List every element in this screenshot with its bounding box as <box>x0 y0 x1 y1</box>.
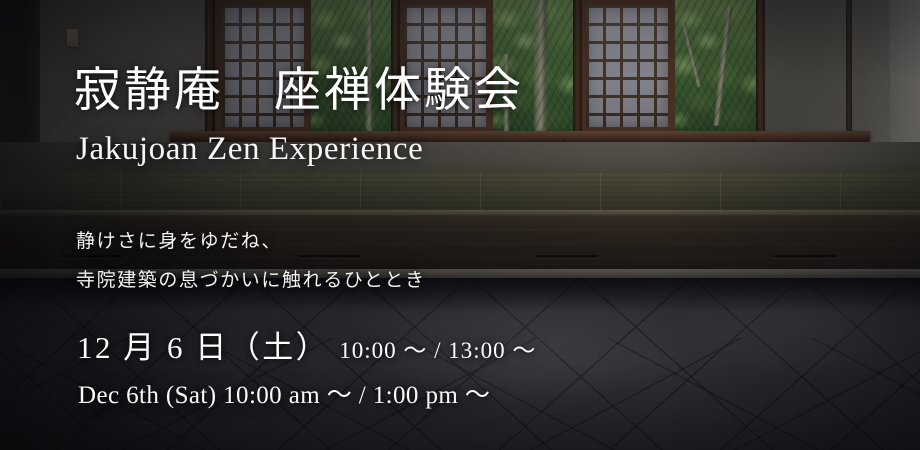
event-date-english: Dec 6th (Sat) 10:00 am ～ / 1:00 pm ～ <box>78 375 490 411</box>
event-poster: 寂静庵 座禅体験会 Jakujoan Zen Experience 静けさに身を… <box>0 0 920 450</box>
poster-text-overlay: 寂静庵 座禅体験会 Jakujoan Zen Experience 静けさに身を… <box>0 0 920 450</box>
event-date-japanese: 12 月 6 日（土）10:00 ～ / 13:00 ～ <box>77 322 536 367</box>
page-title-english: Jakujoan Zen Experience <box>76 133 423 166</box>
lead-line-2: 寺院建築の息づかいに触れるひととき <box>76 261 426 300</box>
event-date-japanese-day: 12 月 6 日（土） <box>77 330 329 365</box>
lead-paragraph: 静けさに身をゆだね、 寺院建築の息づかいに触れるひととき <box>76 222 426 300</box>
event-times-japanese: 10:00 ～ / 13:00 ～ <box>339 338 536 363</box>
lead-line-1: 静けさに身をゆだね、 <box>76 222 426 261</box>
page-title-japanese: 寂静庵 座禅体験会 <box>74 68 524 115</box>
